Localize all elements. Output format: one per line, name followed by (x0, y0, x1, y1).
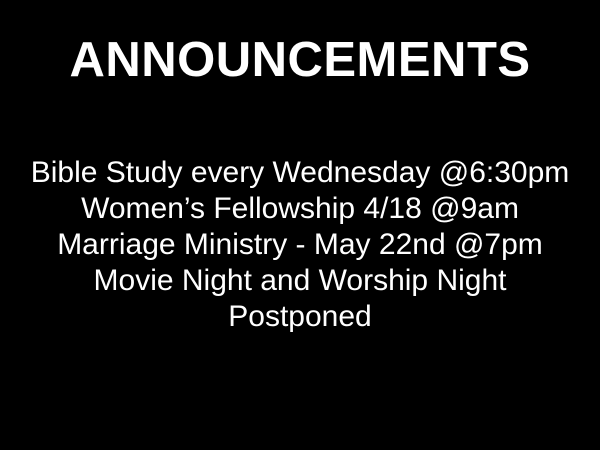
list-item: Women’s Fellowship 4/18 @9am (0, 191, 600, 227)
announcement-slide: ANNOUNCEMENTS Bible Study every Wednesda… (0, 0, 600, 450)
list-item: Postponed (0, 299, 600, 335)
list-item: Marriage Ministry - May 22nd @7pm (0, 227, 600, 263)
list-item: Bible Study every Wednesday @6:30pm (0, 155, 600, 191)
page-title: ANNOUNCEMENTS (0, 30, 600, 90)
list-item: Movie Night and Worship Night (0, 263, 600, 299)
announcement-list: Bible Study every Wednesday @6:30pm Wome… (0, 155, 600, 335)
